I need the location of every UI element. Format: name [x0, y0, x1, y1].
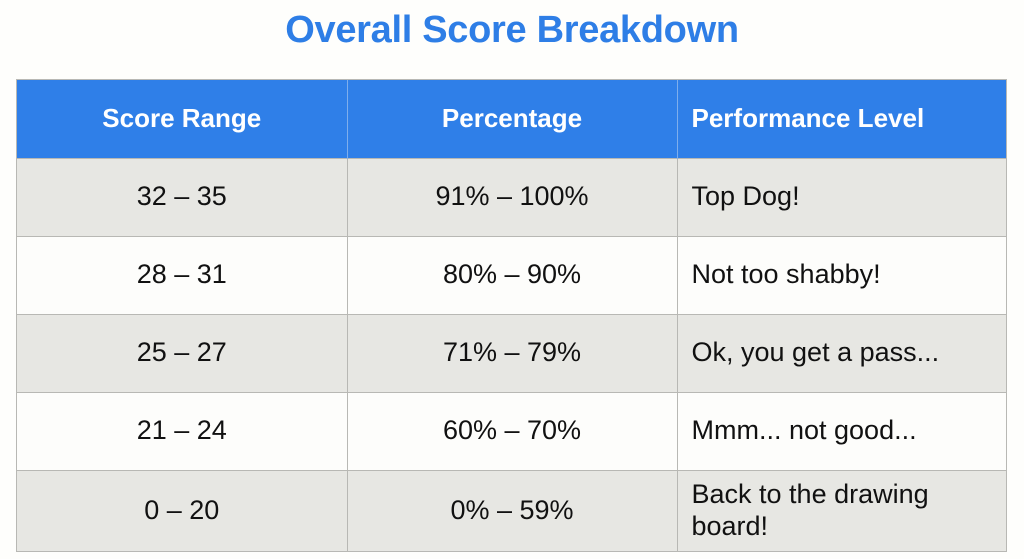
table-row: 25 – 27 71% – 79% Ok, you get a pass... — [17, 314, 1006, 392]
cell-performance-level: Mmm... not good... — [677, 392, 1006, 470]
score-breakdown-table: Score Range Percentage Performance Level… — [17, 80, 1006, 551]
table-header-row: Score Range Percentage Performance Level — [17, 80, 1006, 158]
column-header-performance-level: Performance Level — [677, 80, 1006, 158]
cell-percentage: 60% – 70% — [347, 392, 677, 470]
table-row: 32 – 35 91% – 100% Top Dog! — [17, 158, 1006, 236]
cell-performance-level: Top Dog! — [677, 158, 1006, 236]
cell-score-range: 0 – 20 — [17, 470, 347, 551]
table-row: 0 – 20 0% – 59% Back to the drawing boar… — [17, 470, 1006, 551]
cell-score-range: 25 – 27 — [17, 314, 347, 392]
table-row: 28 – 31 80% – 90% Not too shabby! — [17, 236, 1006, 314]
page-title: Overall Score Breakdown — [0, 9, 1024, 52]
score-breakdown-page: Overall Score Breakdown Score Range Perc… — [0, 0, 1024, 559]
score-breakdown-table-container: Score Range Percentage Performance Level… — [16, 79, 1007, 552]
cell-score-range: 28 – 31 — [17, 236, 347, 314]
table-row: 21 – 24 60% – 70% Mmm... not good... — [17, 392, 1006, 470]
cell-percentage: 91% – 100% — [347, 158, 677, 236]
table-body: 32 – 35 91% – 100% Top Dog! 28 – 31 80% … — [17, 158, 1006, 551]
table-header: Score Range Percentage Performance Level — [17, 80, 1006, 158]
cell-score-range: 21 – 24 — [17, 392, 347, 470]
cell-performance-level: Ok, you get a pass... — [677, 314, 1006, 392]
cell-performance-level: Back to the drawing board! — [677, 470, 1006, 551]
column-header-percentage: Percentage — [347, 80, 677, 158]
cell-percentage: 0% – 59% — [347, 470, 677, 551]
column-header-score-range: Score Range — [17, 80, 347, 158]
cell-score-range: 32 – 35 — [17, 158, 347, 236]
cell-percentage: 71% – 79% — [347, 314, 677, 392]
cell-percentage: 80% – 90% — [347, 236, 677, 314]
cell-performance-level: Not too shabby! — [677, 236, 1006, 314]
